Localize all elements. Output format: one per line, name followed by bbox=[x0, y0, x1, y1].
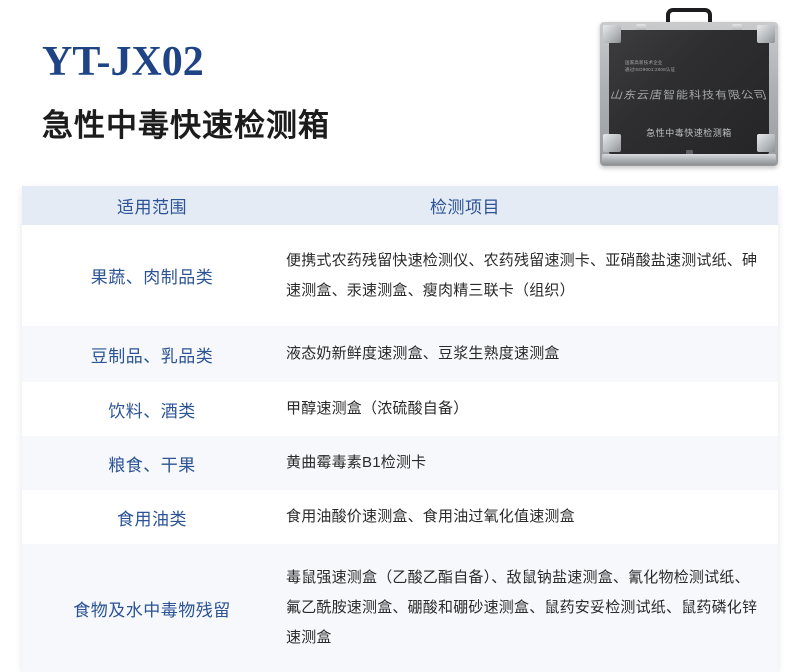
case-corner-top-right-icon bbox=[757, 25, 775, 43]
table-row: 粮食、干果 黄曲霉毒素B1检测卡 bbox=[22, 436, 778, 490]
cell-scope: 饮料、酒类 bbox=[22, 397, 282, 422]
title-group: YT-JX02 急性中毒快速检测箱 bbox=[42, 40, 330, 145]
case-corner-bottom-left-icon bbox=[603, 134, 621, 152]
cell-scope: 果蔬、肉制品类 bbox=[22, 263, 282, 288]
table-row: 果蔬、肉制品类 便携式农药残留快速检测仪、农药残留速测卡、亚硝酸盐速测试纸、砷速… bbox=[22, 225, 778, 326]
case-corner-bottom-right-icon bbox=[757, 134, 775, 152]
product-photo: 国家高新技术企业 通过ISO9001:2008认证 山东云唐智能科技有限公司 急… bbox=[600, 8, 778, 174]
cell-scope: 食物及水中毒物残留 bbox=[22, 596, 282, 621]
cell-items: 便携式农药残留快速检测仪、农药残留速测卡、亚硝酸盐速测试纸、砷速测盒、汞速测盒、… bbox=[282, 234, 778, 318]
product-subtitle: 急性中毒快速检测箱 bbox=[42, 100, 330, 145]
page-header: YT-JX02 急性中毒快速检测箱 国家高新技术企业 通过ISO9001:200… bbox=[0, 0, 800, 182]
cell-items: 毒鼠强速测盒（乙酸乙酯自备）、敌鼠钠盐速测盒、氰化物检测试纸、氟乙酰胺速测盒、硼… bbox=[282, 551, 778, 665]
table-row: 饮料、酒类 甲醇速测盒（浓硫酸自备） bbox=[22, 382, 778, 436]
cell-items: 黄曲霉毒素B1检测卡 bbox=[282, 436, 778, 490]
case-product-text: 急性中毒快速检测箱 bbox=[609, 126, 769, 139]
cell-items: 液态奶新鲜度速测盒、豆浆生熟度速测盒 bbox=[282, 327, 778, 381]
case-body: 国家高新技术企业 通过ISO9001:2008认证 山东云唐智能科技有限公司 急… bbox=[600, 22, 778, 166]
case-handle-icon bbox=[666, 8, 712, 23]
table-row: 豆制品、乳品类 液态奶新鲜度速测盒、豆浆生熟度速测盒 bbox=[22, 326, 778, 382]
column-header-items: 检测项目 bbox=[282, 193, 778, 218]
cell-items: 甲醇速测盒（浓硫酸自备） bbox=[282, 382, 778, 436]
spec-table: 适用范围 检测项目 果蔬、肉制品类 便携式农药残留快速检测仪、农药残留速测卡、亚… bbox=[22, 186, 778, 672]
case-face: 国家高新技术企业 通过ISO9001:2008认证 山东云唐智能科技有限公司 急… bbox=[609, 30, 769, 154]
case-corner-top-left-icon bbox=[603, 25, 621, 43]
table-row: 食物及水中毒物残留 毒鼠强速测盒（乙酸乙酯自备）、敌鼠钠盐速测盒、氰化物检测试纸… bbox=[22, 544, 778, 672]
cell-scope: 粮食、干果 bbox=[22, 451, 282, 476]
column-header-scope: 适用范围 bbox=[22, 193, 282, 218]
case-cert-line-1: 国家高新技术企业 bbox=[625, 60, 675, 67]
table-row: 食用油类 食用油酸价速测盒、食用油过氧化值速测盒 bbox=[22, 490, 778, 544]
cell-items: 食用油酸价速测盒、食用油过氧化值速测盒 bbox=[282, 490, 778, 544]
case-cert-line-2: 通过ISO9001:2008认证 bbox=[625, 67, 675, 74]
case-brand-text: 山东云唐智能科技有限公司 bbox=[606, 87, 772, 102]
page-title: YT-JX02 bbox=[42, 40, 330, 84]
cell-scope: 食用油类 bbox=[22, 505, 282, 530]
cell-scope: 豆制品、乳品类 bbox=[22, 342, 282, 367]
case-certification-text: 国家高新技术企业 通过ISO9001:2008认证 bbox=[625, 60, 675, 74]
table-header-row: 适用范围 检测项目 bbox=[22, 186, 778, 225]
case-base bbox=[602, 154, 776, 165]
